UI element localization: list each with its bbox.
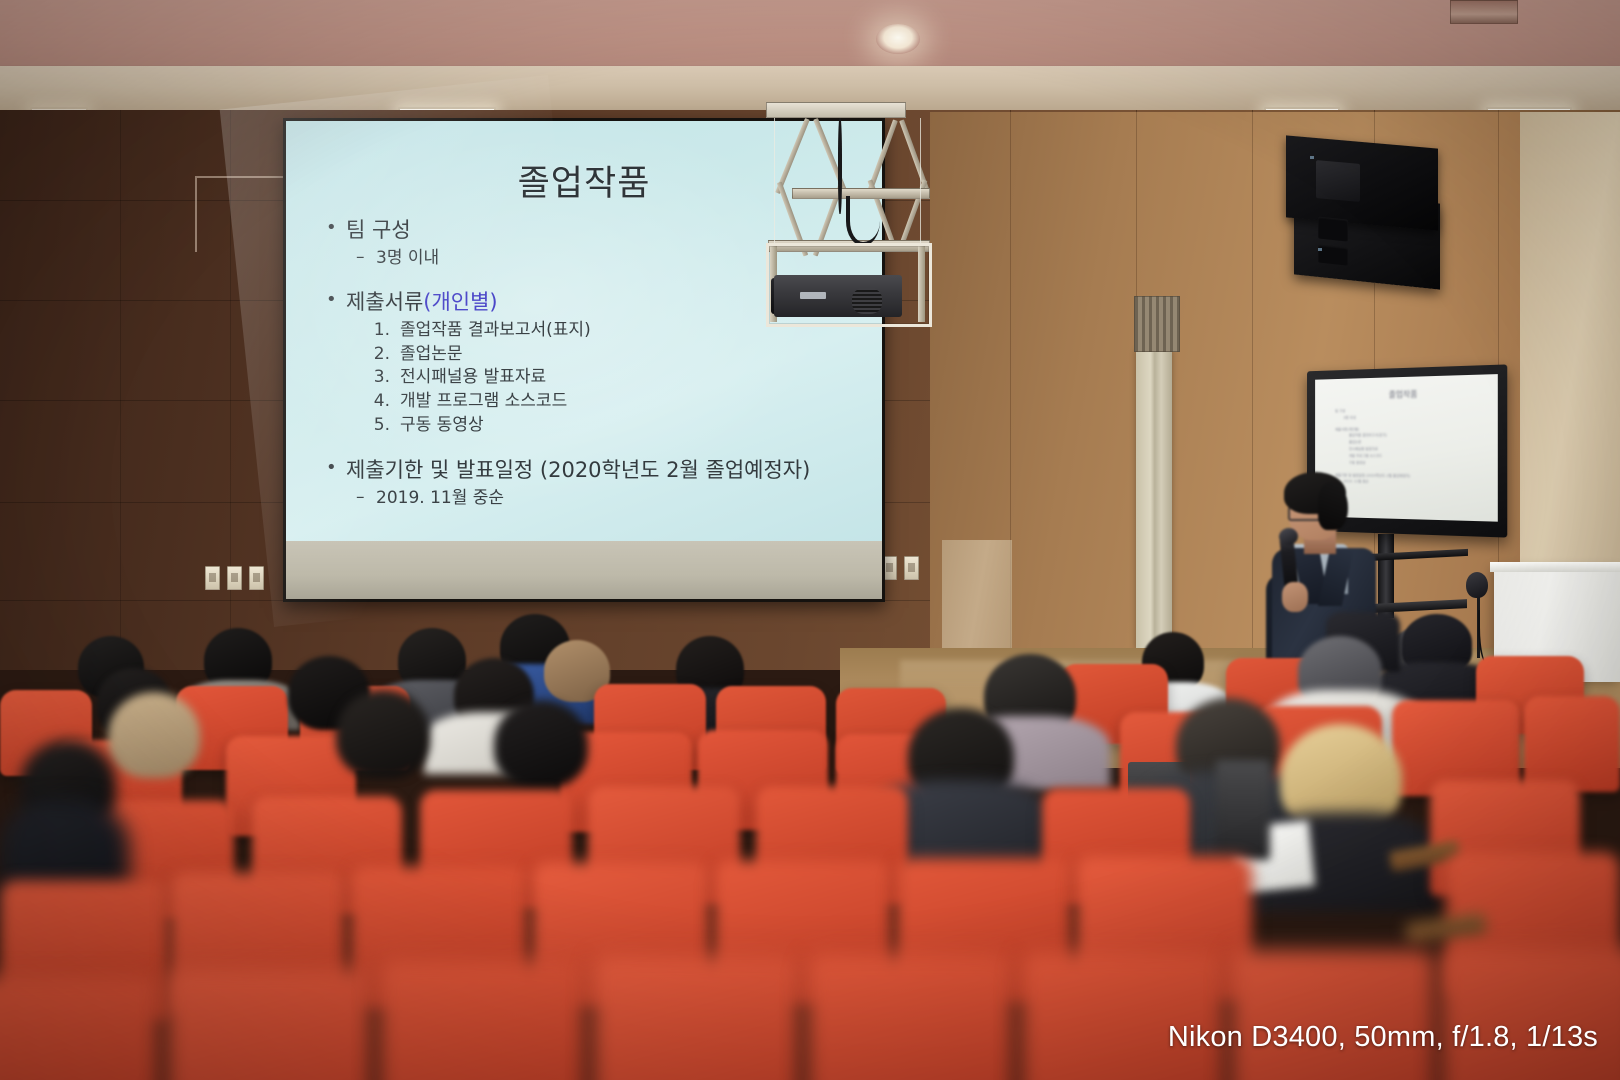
auditorium-seat (0, 976, 160, 1080)
list-text: 전시패널용 발표자료 (400, 367, 546, 387)
projector-cable-loop (846, 196, 880, 246)
audience-head (108, 692, 200, 778)
rig-support-wire (774, 118, 775, 246)
list-item: 3.전시패널용 발표자료 (314, 366, 866, 389)
auditorium-seat (166, 968, 372, 1080)
pa-speaker-upper (1286, 135, 1438, 230)
auditorium-seat (1440, 948, 1620, 1080)
presenter-hand (1282, 582, 1308, 612)
auditorium-seat (592, 956, 800, 1080)
ceiling-downlight-icon (876, 24, 920, 54)
pa-speaker-port (1318, 216, 1348, 241)
ceiling-vent (1450, 0, 1518, 24)
monitor-line: 구동 동영상 (1335, 460, 1487, 468)
slide-bullet-2-highlight: (개인별) (423, 290, 497, 314)
projector-vent (852, 288, 882, 314)
slide-numbered-list: 1.졸업작품 결과보고서(표지) 2.졸업논문 3.전시패널용 발표자료 4.개… (314, 319, 866, 436)
wall-outlet (227, 566, 242, 590)
slide-bullet-3: 제출기한 및 발표일정 (2020학년도 2월 졸업예정자) (314, 457, 866, 485)
rig-support-wire (920, 118, 921, 246)
projector-ceiling-plate (766, 102, 906, 118)
slide-bullet-2-text: 제출서류 (346, 290, 423, 314)
monitor-line: 3명 이내 (1335, 413, 1487, 422)
monitor-slide-lines: 팀 구성 3명 이내 제출서류(개인별) 졸업작품 결과보고서(표지) 졸업논문… (1335, 405, 1487, 487)
pa-speaker-led-icon (1310, 156, 1314, 159)
lectern-top (1490, 562, 1620, 572)
slide-bullet-3-sub: 2019. 11월 중순 (314, 487, 866, 510)
list-item: 5.구동 동영상 (314, 414, 866, 437)
wall-outlet (904, 556, 919, 580)
list-number: 5. (362, 414, 390, 437)
projector-body (774, 275, 902, 317)
wall-seam (120, 110, 121, 670)
screen-bottom-bar (286, 541, 882, 599)
auditorium-seat (1524, 696, 1620, 792)
list-text: 구동 동영상 (400, 415, 484, 435)
camera-exif-watermark: Nikon D3400, 50mm, f/1.8, 1/13s (1168, 1021, 1598, 1054)
list-number: 3. (362, 366, 390, 389)
auditorium-seat (378, 960, 586, 1080)
wall-seam (1252, 110, 1253, 670)
hair (336, 690, 430, 778)
photograph-auditorium-lecture: 졸업작품 팀 구성 3명 이내 제출서류(개인별) 1.졸업작품 결과보고서(표… (0, 0, 1620, 1080)
audience-head (336, 690, 430, 778)
projector-badge (800, 292, 826, 299)
presenter-hair (1318, 482, 1348, 530)
wall-outlet (205, 566, 220, 590)
wall-duct-column (1136, 350, 1172, 650)
pa-speaker-driver (1316, 160, 1360, 202)
wall-duct-grille (1134, 296, 1180, 352)
microphone-icon (1466, 572, 1488, 598)
seat-armrest (1216, 760, 1270, 860)
auditorium-seat (806, 954, 1014, 1080)
list-item: 2.졸업논문 (314, 343, 866, 366)
wall-outlet (249, 566, 264, 590)
pa-speaker-led-icon (1318, 248, 1322, 251)
list-number: 1. (362, 319, 390, 342)
ceiling (0, 0, 1620, 72)
monitor-slide-title: 졸업작품 (1315, 387, 1498, 402)
auditorium-seat (1020, 952, 1226, 1080)
slide-spacer (314, 437, 866, 457)
list-number: 2. (362, 343, 390, 366)
projected-slide: 졸업작품 팀 구성 3명 이내 제출서류(개인별) 1.졸업작품 결과보고서(표… (286, 121, 882, 541)
auditorium-seat (1230, 950, 1436, 1080)
list-text: 졸업작품 결과보고서(표지) (400, 320, 591, 340)
hair (108, 692, 200, 778)
list-number: 4. (362, 390, 390, 413)
list-text: 졸업논문 (400, 344, 463, 364)
list-text: 개발 프로그램 소스코드 (400, 391, 567, 411)
projector-power-cable (838, 118, 842, 214)
list-item: 4.개발 프로그램 소스코드 (314, 390, 866, 413)
audience-head (494, 700, 588, 788)
pa-speaker-port (1318, 244, 1348, 265)
hair (494, 700, 588, 788)
